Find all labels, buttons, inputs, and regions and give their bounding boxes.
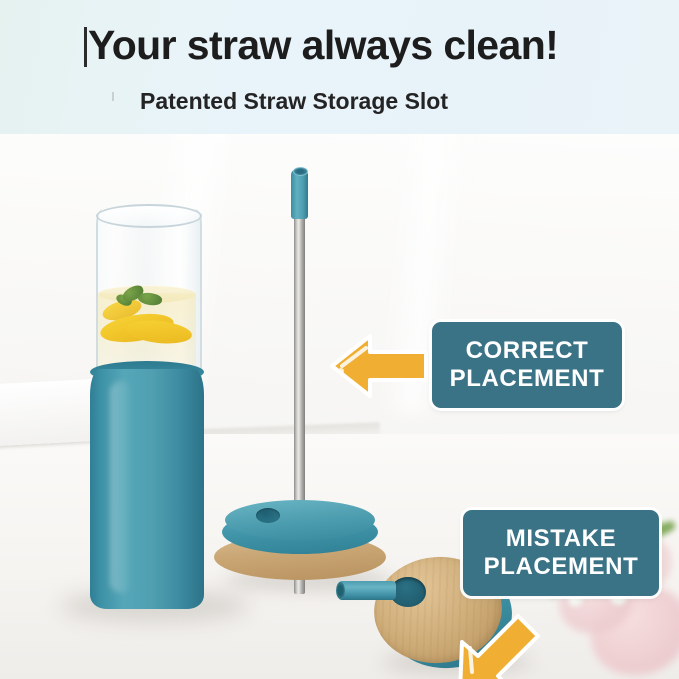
straw-storage-slot (256, 508, 280, 523)
subheadline-tick (112, 92, 114, 101)
straw-silicone-tip (291, 169, 308, 219)
header-band: Your straw always clean! Patented Straw … (0, 0, 679, 134)
callout-badge-mistake[interactable]: MISTAKE PLACEMENT (463, 510, 659, 596)
callout-badge-correct[interactable]: CORRECT PLACEMENT (432, 322, 622, 408)
product-infographic: Your straw always clean! Patented Straw … (0, 0, 679, 679)
arrow-diagonal-down-left-icon (452, 608, 544, 679)
callout-line-1: MISTAKE (506, 525, 616, 553)
straw-opening (293, 167, 308, 176)
headline-accent-bar (84, 27, 87, 67)
silicone-sleeve (90, 369, 204, 609)
callout-line-2: PLACEMENT (450, 365, 605, 393)
arrow-left-icon (328, 330, 430, 402)
straw-opening (336, 582, 345, 599)
page-title: Your straw always clean! (88, 22, 558, 69)
callout-line-2: PLACEMENT (484, 553, 639, 581)
page-subtitle: Patented Straw Storage Slot (140, 88, 448, 115)
sleeve-highlight (110, 381, 132, 593)
glass-rim (96, 204, 202, 228)
silicone-lid-top (225, 500, 375, 540)
product-photo: VOSV (0, 134, 679, 679)
glass-tumbler (86, 209, 206, 609)
straw-silicone-tip (338, 581, 396, 600)
callout-line-1: CORRECT (466, 337, 589, 365)
